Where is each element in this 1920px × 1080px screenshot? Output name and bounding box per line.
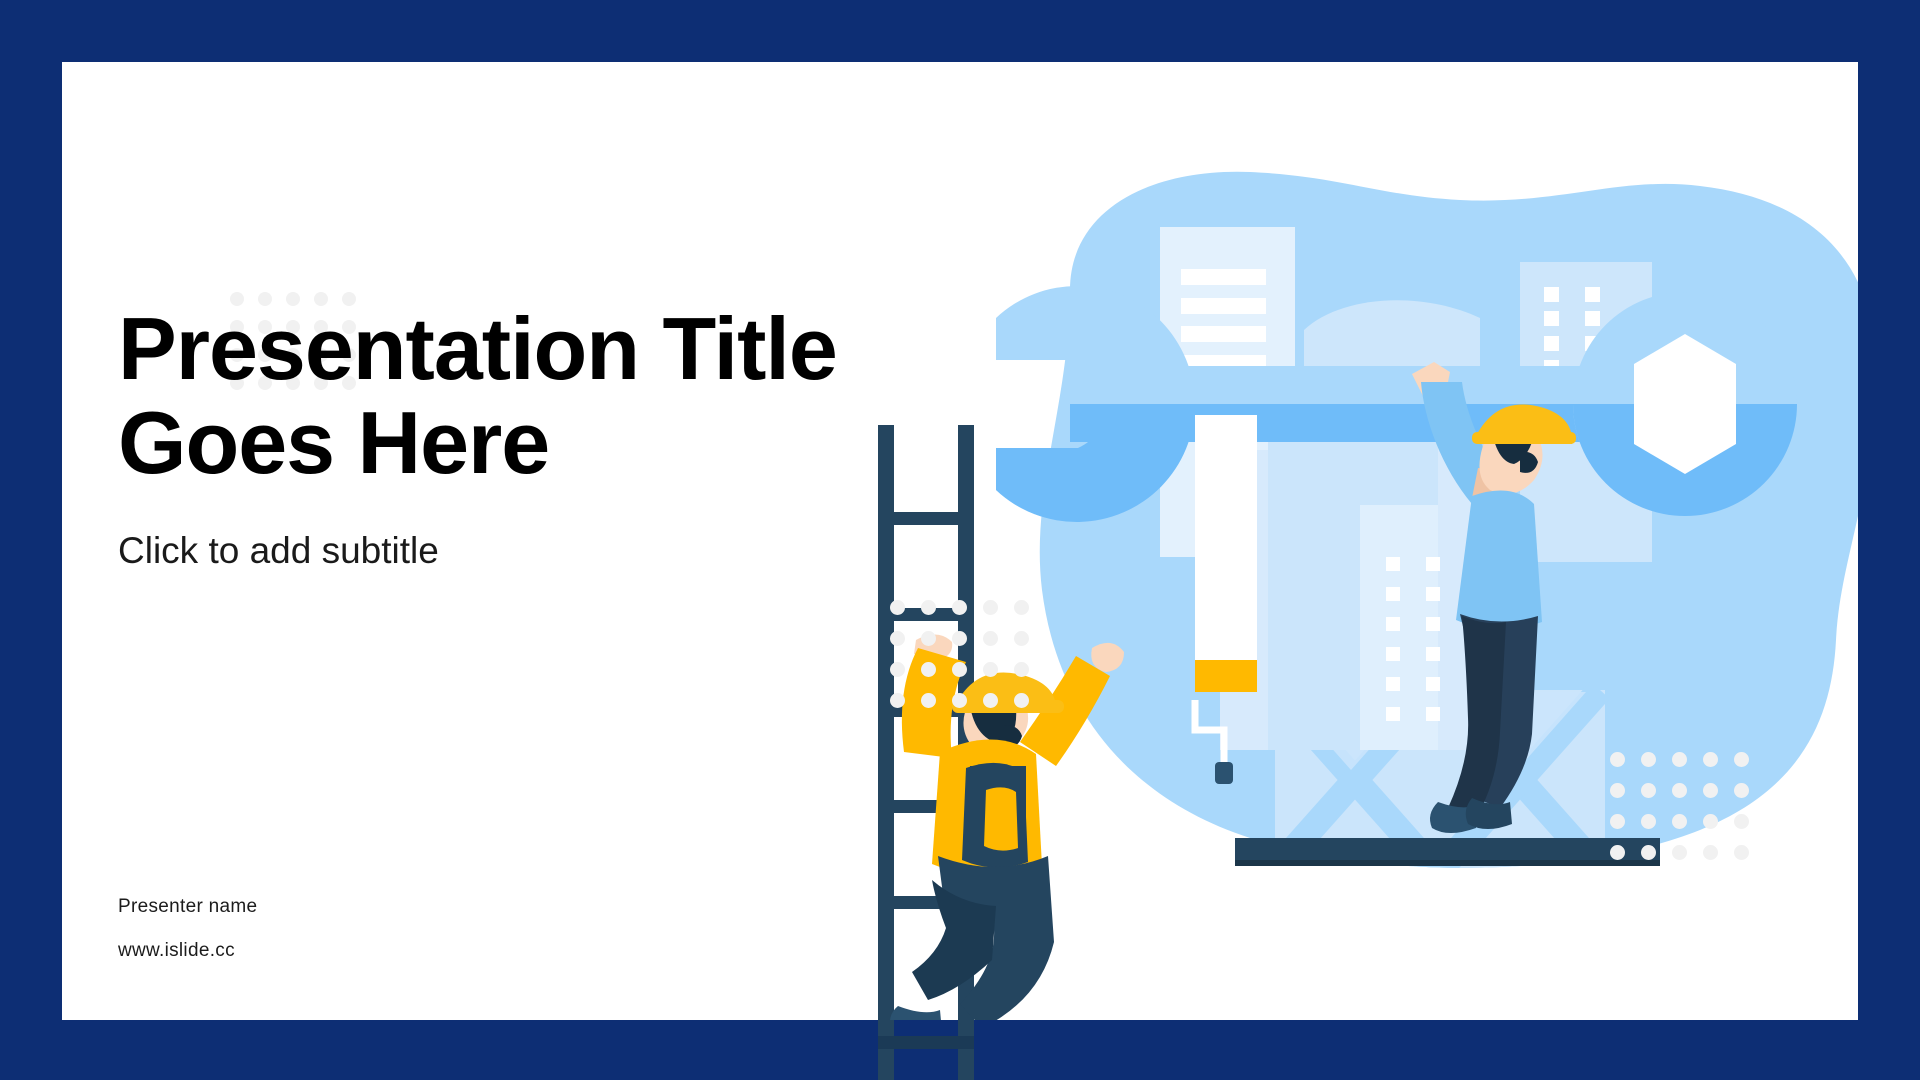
construction-illustration xyxy=(820,0,1920,1080)
decorative-dot-grid-bottom-right xyxy=(1610,752,1765,876)
decorative-dot-grid-middle xyxy=(890,600,1045,724)
footer-group: Presenter name www.islide.cc xyxy=(118,896,538,984)
slide-canvas: Presentation Title Goes Here Click to ad… xyxy=(0,0,1920,1080)
subtitle-placeholder[interactable]: Click to add subtitle xyxy=(118,530,938,572)
scaffold-plank xyxy=(1235,838,1660,866)
page-title[interactable]: Presentation Title Goes Here xyxy=(118,302,938,490)
ladder-extension-below-card xyxy=(878,1020,974,1080)
title-group: Presentation Title Goes Here Click to ad… xyxy=(118,302,938,572)
website-url[interactable]: www.islide.cc xyxy=(118,940,538,962)
presenter-name[interactable]: Presenter name xyxy=(118,896,538,918)
